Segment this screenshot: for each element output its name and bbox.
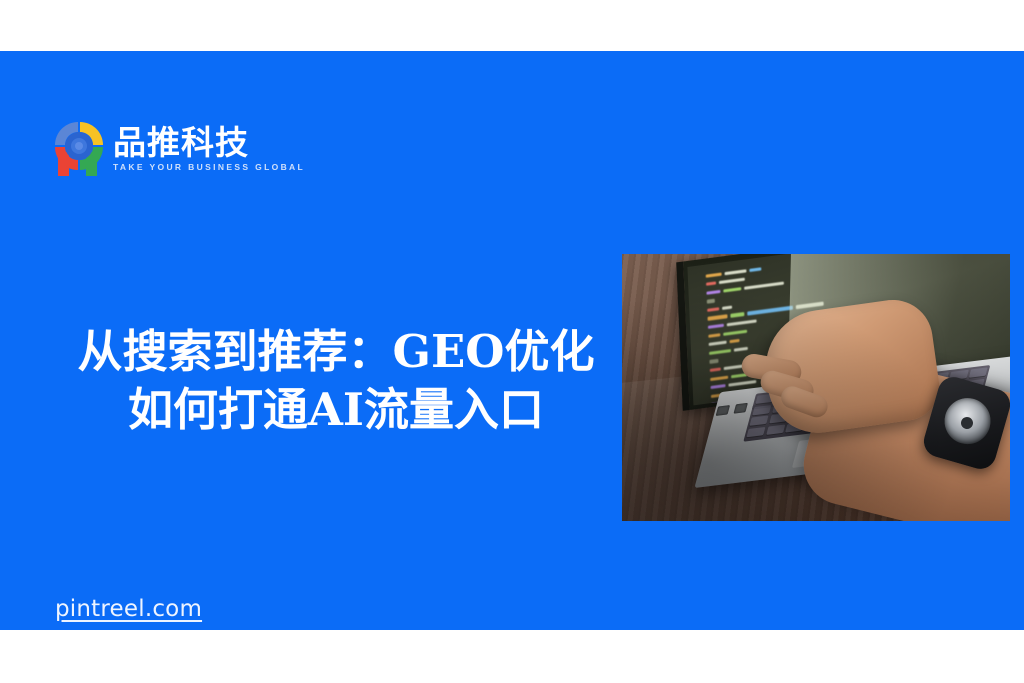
brand-tagline: TAKE YOUR BUSINESS GLOBAL	[113, 162, 305, 173]
laptop-coding-photo	[622, 254, 1010, 521]
port	[734, 403, 748, 414]
pintreel-logo-icon	[52, 119, 106, 177]
title-line-1: 从搜索到推荐：GEO优化	[18, 323, 654, 381]
brand-logo[interactable]: 品推科技 TAKE YOUR BUSINESS GLOBAL	[52, 119, 305, 177]
port	[716, 405, 730, 416]
brand-text-group: 品推科技 TAKE YOUR BUSINESS GLOBAL	[113, 123, 305, 173]
brand-name: 品推科技	[113, 125, 305, 161]
slide-frame: 品推科技 TAKE YOUR BUSINESS GLOBAL 从搜索到推荐：GE…	[0, 0, 1024, 683]
website-url-link[interactable]: pintreel.com	[55, 594, 202, 624]
watch-center-dot	[960, 416, 975, 431]
photo-scene	[622, 254, 1010, 521]
page-title: 从搜索到推荐：GEO优化 如何打通AI流量入口	[18, 323, 654, 439]
title-line-2: 如何打通AI流量入口	[18, 381, 654, 439]
slide-background: 品推科技 TAKE YOUR BUSINESS GLOBAL 从搜索到推荐：GE…	[0, 51, 1024, 630]
watch-face	[939, 393, 996, 450]
